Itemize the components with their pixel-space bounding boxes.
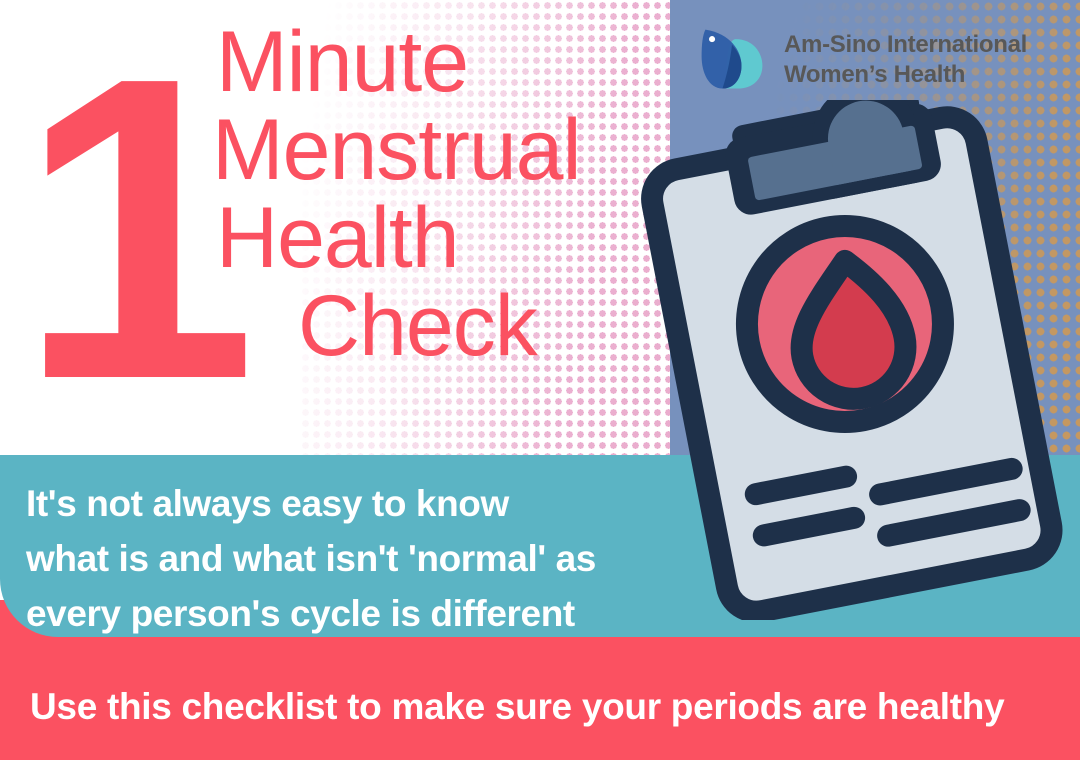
logo-dot (709, 36, 715, 42)
clipboard-illustration (630, 100, 1080, 620)
infographic-poster: 1 Minute Menstrual Health Check Am-Sino … (0, 0, 1080, 760)
headline-line-1: Minute (216, 18, 672, 106)
headline-line-3: Health (216, 194, 672, 282)
brand-name-line-2: Women’s Health (784, 60, 1027, 90)
intro-line-1: It's not always easy to know (26, 476, 666, 531)
intro-line-2: what is and what isn't 'normal' as (26, 531, 666, 586)
headline-line-2: Menstrual (212, 106, 672, 194)
am-sino-leaf-logo-icon (694, 22, 770, 98)
headline-line-4: Check (298, 282, 672, 370)
intro-line-3: every person's cycle is different (26, 586, 666, 641)
headline-lines: Minute Menstrual Health Check (0, 18, 672, 370)
brand-name-line-1: Am-Sino International (784, 30, 1027, 60)
brand-name: Am-Sino International Women’s Health (784, 30, 1027, 90)
call-to-action-text: Use this checklist to make sure your per… (30, 684, 1070, 730)
intro-paragraph: It's not always easy to know what is and… (26, 476, 666, 641)
headline-block: 1 Minute Menstrual Health Check (0, 0, 672, 456)
brand-lockup: Am-Sino International Women’s Health (694, 22, 1027, 98)
